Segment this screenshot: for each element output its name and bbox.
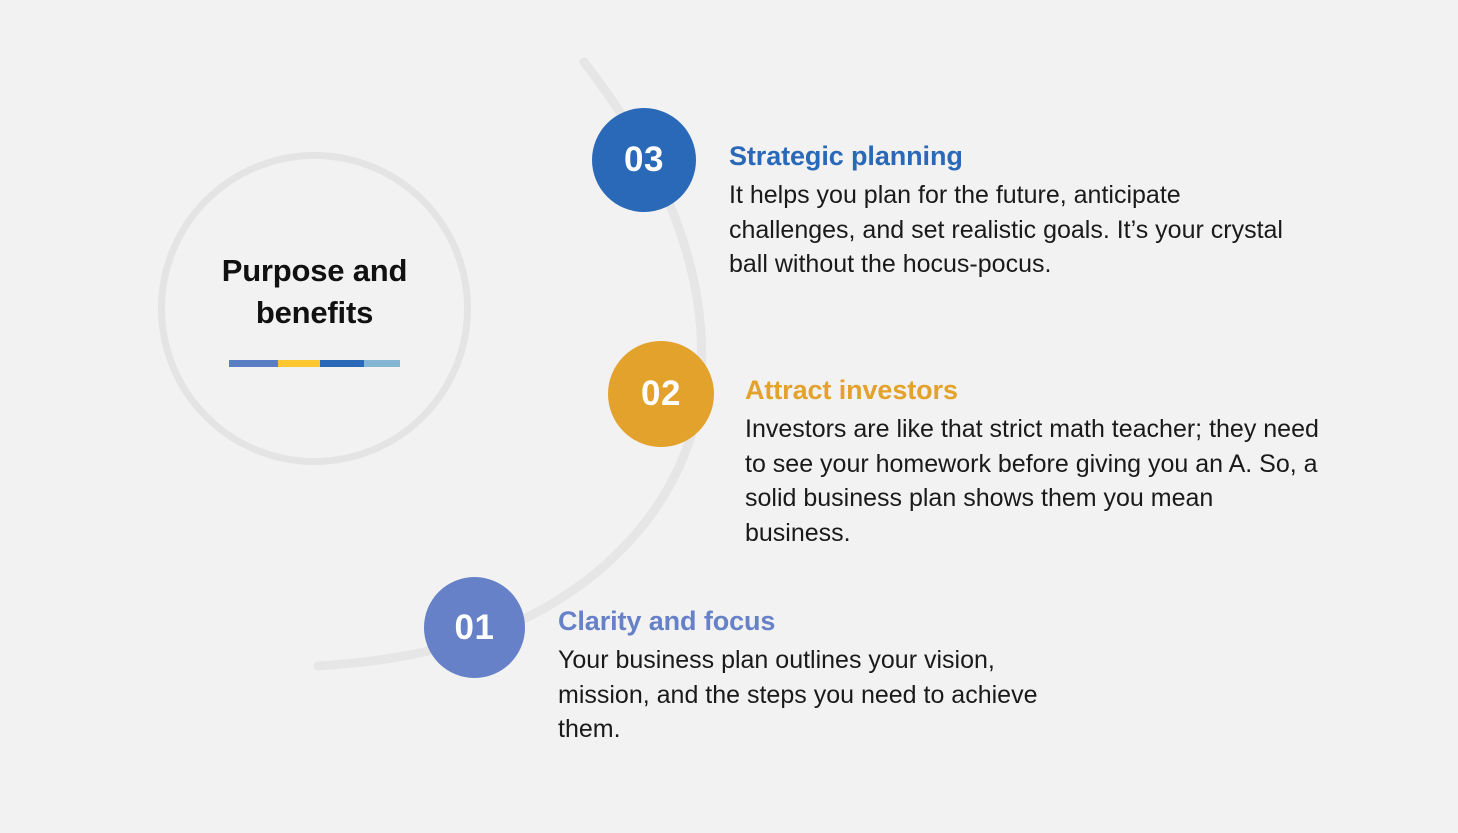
step-text-01: Clarity and focus Your business plan out…	[558, 606, 1058, 747]
accent-bar-segment-yellow	[278, 360, 319, 367]
step-badge-02[interactable]: 02	[608, 341, 714, 447]
step-heading-01: Clarity and focus	[558, 606, 1058, 637]
step-text-02: Attract investors Investors are like tha…	[745, 375, 1325, 550]
accent-bar	[229, 360, 401, 367]
step-body-02: Investors are like that strict math teac…	[745, 412, 1325, 550]
accent-bar-segment-periwinkle	[229, 360, 279, 367]
step-body-01: Your business plan outlines your vision,…	[558, 643, 1058, 747]
infographic-canvas: Purpose and benefits 03 Strategic planni…	[0, 0, 1458, 833]
step-badge-01[interactable]: 01	[424, 577, 525, 678]
step-badge-03[interactable]: 03	[592, 108, 696, 212]
step-badge-02-number: 02	[641, 374, 681, 414]
hub-title-line-2: benefits	[256, 295, 373, 330]
hub-title-line-1: Purpose and	[222, 253, 408, 288]
step-text-03: Strategic planning It helps you plan for…	[729, 141, 1309, 282]
step-heading-03: Strategic planning	[729, 141, 1309, 172]
step-badge-01-number: 01	[455, 608, 495, 648]
step-body-03: It helps you plan for the future, antici…	[729, 178, 1309, 282]
step-heading-02: Attract investors	[745, 375, 1325, 406]
accent-bar-segment-blue	[320, 360, 365, 367]
hub-content: Purpose and benefits	[158, 152, 471, 465]
page-title: Purpose and benefits	[222, 250, 408, 334]
accent-bar-segment-light-blue	[364, 360, 400, 367]
step-badge-03-number: 03	[624, 140, 664, 180]
